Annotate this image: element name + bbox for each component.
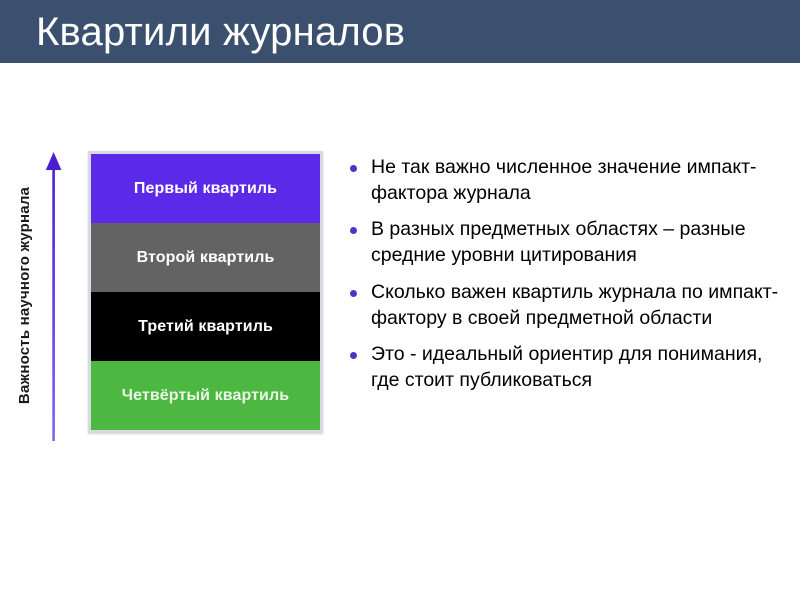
list-item: В разных предметных областях – разные ср… (350, 217, 790, 268)
bullet-dot-icon (350, 165, 357, 172)
list-item: Это - идеальный ориентир для понимания, … (350, 342, 790, 393)
quartile-band-first: Первый квартиль (91, 154, 320, 223)
bullet-dot-icon (350, 227, 357, 234)
quartile-band-second: Второй квартиль (91, 223, 320, 292)
slide-header: Квартили журналов (0, 0, 800, 63)
quartile-band-first-label: Первый квартиль (134, 180, 277, 198)
up-arrow-icon (43, 151, 65, 443)
bullet-dot-icon (350, 290, 357, 297)
bullet-text: В разных предметных областях – разные ср… (371, 217, 790, 268)
bullet-text: Это - идеальный ориентир для понимания, … (371, 342, 790, 393)
quartile-band-fourth-label: Четвёртый квартиль (122, 387, 289, 405)
list-item: Сколько важен квартиль журнала по импакт… (350, 280, 790, 331)
quartile-stack: Первый квартиль Второй квартиль Третий к… (88, 151, 323, 433)
axis-label-text: Важность научного журнала (17, 186, 34, 403)
bullet-text: Не так важно численное значение импакт-ф… (371, 155, 790, 206)
quartile-band-third: Третий квартиль (91, 292, 320, 361)
quartile-diagram-panel: Важность научного журнала Первый квартил… (0, 63, 340, 600)
page-title: Квартили журналов (36, 12, 405, 52)
bullet-list: Не так важно численное значение импакт-ф… (350, 155, 790, 405)
bullet-dot-icon (350, 352, 357, 359)
importance-axis-label: Важность научного журнала (10, 145, 40, 445)
quartile-band-third-label: Третий квартиль (138, 318, 273, 336)
list-item: Не так важно численное значение импакт-ф… (350, 155, 790, 206)
bullet-text: Сколько важен квартиль журнала по импакт… (371, 280, 790, 331)
quartile-band-second-label: Второй квартиль (137, 249, 275, 267)
quartile-band-fourth: Четвёртый квартиль (91, 361, 320, 430)
